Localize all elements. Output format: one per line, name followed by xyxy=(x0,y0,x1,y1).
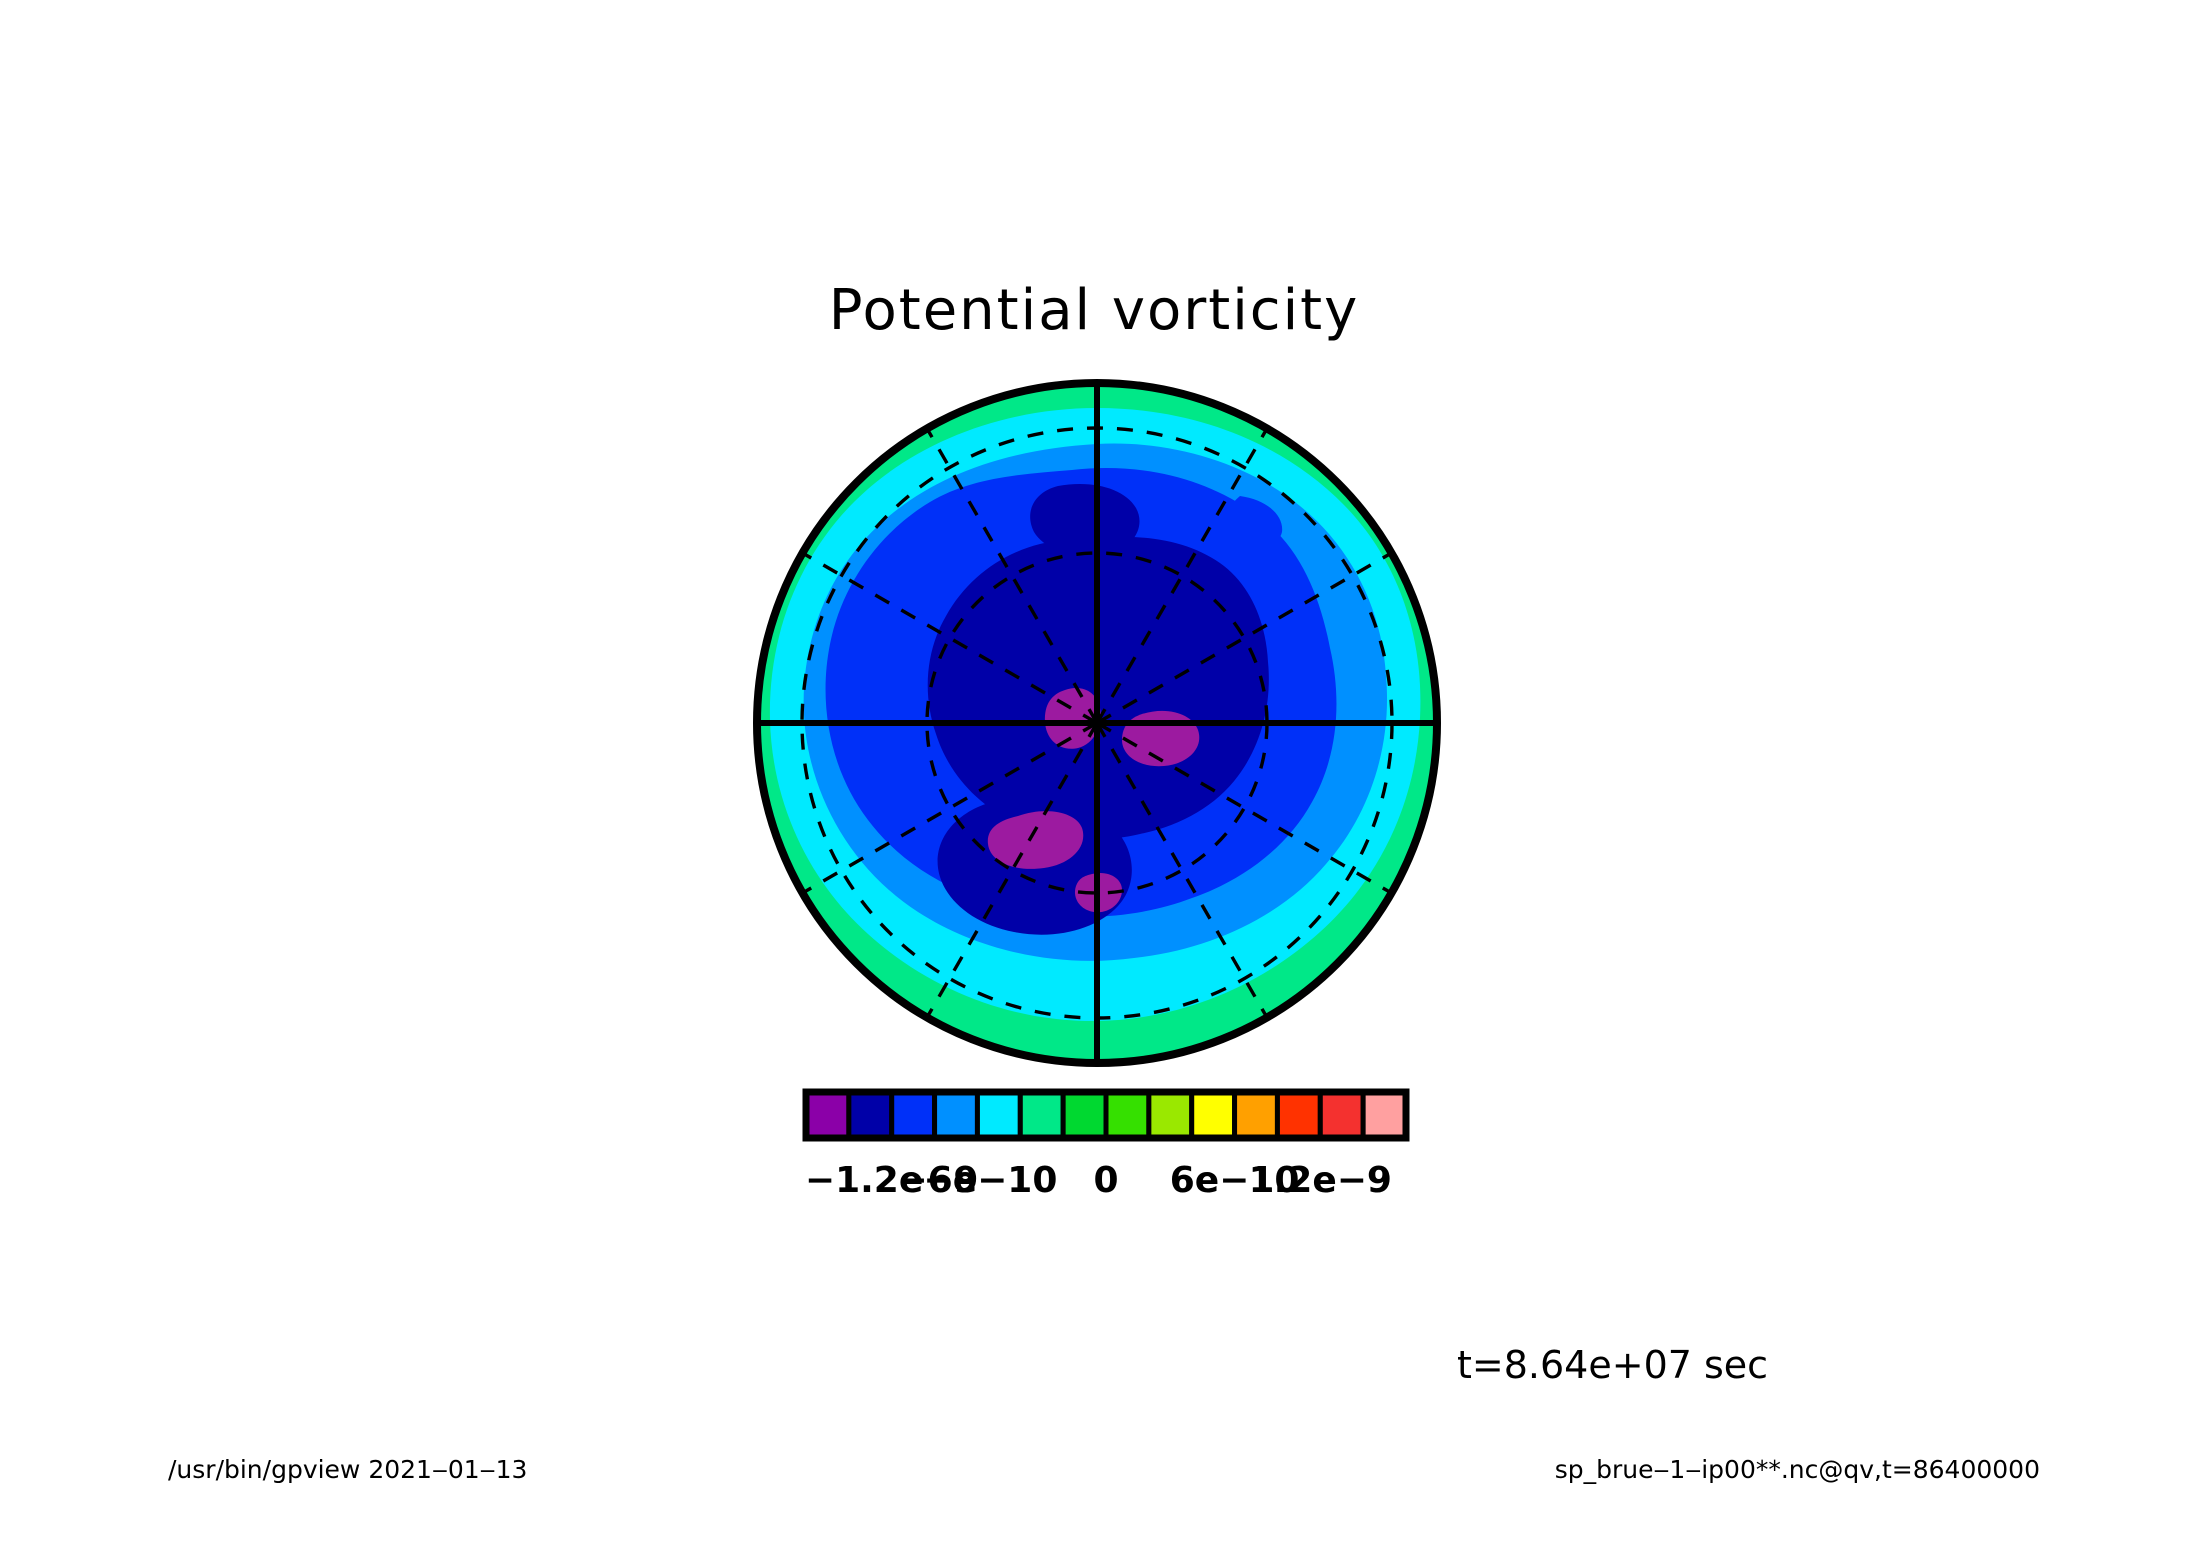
colorbar-swatch xyxy=(849,1092,892,1138)
colorbar xyxy=(806,1092,1406,1138)
colorbar-tick-label: −6e−10 xyxy=(897,1160,1057,1201)
colorbar-swatch xyxy=(1149,1092,1192,1138)
colorbar-swatch xyxy=(1235,1092,1278,1138)
colorbar-swatch xyxy=(892,1092,935,1138)
colorbar-swatch xyxy=(1020,1092,1063,1138)
polar-contour-plot xyxy=(0,0,2188,1546)
colorbar-swatch xyxy=(1320,1092,1363,1138)
colorbar-tick-label: 1.2e−9 xyxy=(1249,1160,1392,1201)
colorbar-swatch xyxy=(1106,1092,1149,1138)
colorbar-swatch xyxy=(977,1092,1020,1138)
colorbar-swatch xyxy=(1277,1092,1320,1138)
colorbar-swatch xyxy=(935,1092,978,1138)
colorbar-swatch xyxy=(1363,1092,1406,1138)
colorbar-swatch xyxy=(1192,1092,1235,1138)
time-annotation: t=8.64e+07 sec xyxy=(1457,1343,1768,1387)
colorbar-tick-label: 0 xyxy=(1093,1160,1118,1201)
footer-left-text: /usr/bin/gpview 2021‒01‒13 xyxy=(168,1455,527,1484)
colorbar-swatch xyxy=(806,1092,849,1138)
colorbar-swatches xyxy=(806,1092,1406,1138)
plot-svg xyxy=(0,0,2188,1546)
colorbar-swatch xyxy=(1063,1092,1106,1138)
footer-right-text: sp_brue‒1‒ip00**.nc@qv,t=86400000 xyxy=(1555,1455,2040,1484)
